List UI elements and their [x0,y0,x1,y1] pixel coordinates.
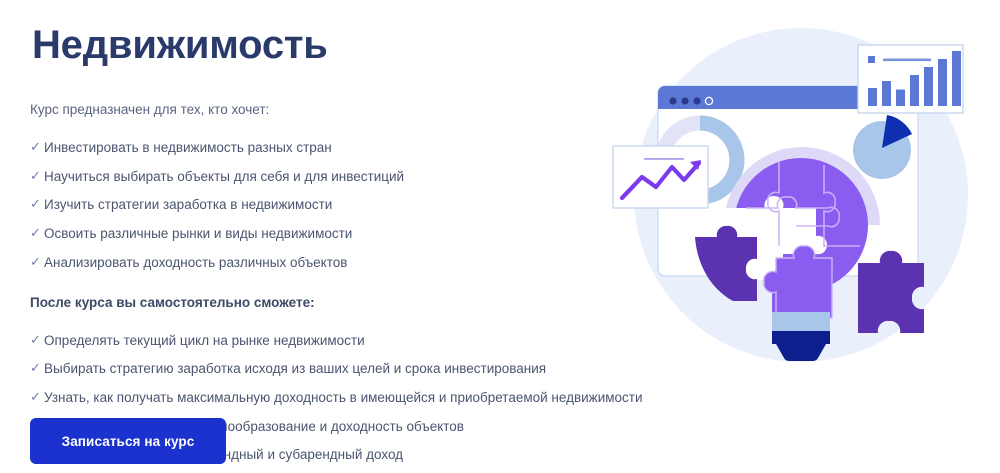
list-item: ✓ Освоить различные рынки и виды недвижи… [30,219,630,248]
check-icon: ✓ [30,167,44,186]
bulb-band-light [772,312,830,331]
enroll-button[interactable]: Записаться на курс [30,418,226,464]
window-dot [693,97,700,104]
check-icon: ✓ [30,253,44,272]
content-column: Недвижимость Курс предназначен для тех, … [30,22,630,469]
list-item: ✓ Анализировать доходность различных объ… [30,248,630,277]
bar-chart-card [858,45,963,113]
legend-line [644,158,684,160]
check-icon: ✓ [30,359,44,378]
bar [896,90,905,107]
list-item-label: Инвестировать в недвижимость разных стра… [44,138,332,158]
analytics-puzzle-lightbulb-illustration [600,0,1000,400]
landing-page: Недвижимость Курс предназначен для тех, … [0,0,1000,473]
list-item: ✓ Инвестировать в недвижимость разных ст… [30,134,630,163]
bar [882,81,891,106]
legend-marker [868,56,875,63]
line-chart-card [613,146,708,208]
check-icon: ✓ [30,138,44,157]
list-item-label: Узнать, как получать максимальную доходн… [44,388,643,408]
window-dot [669,97,676,104]
list-item-label: Определять текущий цикл на рынке недвижи… [44,331,365,351]
page-title: Недвижимость [32,22,630,68]
outcomes-heading: После курса вы самостоятельно сможете: [30,293,630,313]
list-item: ✓ Изучить стратегии заработка в недвижим… [30,191,630,220]
bulb-band-navy [772,331,830,344]
bar [868,88,877,106]
list-item: ✓ Научиться выбирать объекты для себя и … [30,162,630,191]
list-item-label: Выбирать стратегию заработка исходя из в… [44,359,546,379]
benefits-list: ✓ Инвестировать в недвижимость разных ст… [30,134,630,277]
bar [938,59,947,106]
bar [924,67,933,106]
list-item: ✓ Выбирать стратегию заработка исходя из… [30,355,630,384]
list-item-label: Научиться выбирать объекты для себя и дл… [44,167,404,187]
window-dot [681,97,688,104]
list-item-label: Анализировать доходность различных объек… [44,253,347,273]
legend-line [883,59,931,62]
bar [952,51,961,106]
list-item: ✓ Определять текущий цикл на рынке недви… [30,326,630,355]
list-item: ✓ Узнать, как получать максимальную дохо… [30,383,630,412]
bar [910,75,919,106]
list-item-label: Изучить стратегии заработка в недвижимос… [44,195,332,215]
intro-text: Курс предназначен для тех, кто хочет: [30,100,630,120]
check-icon: ✓ [30,195,44,214]
check-icon: ✓ [30,388,44,407]
list-item-label: Освоить различные рынки и виды недвижимо… [44,224,352,244]
check-icon: ✓ [30,224,44,243]
check-icon: ✓ [30,331,44,350]
